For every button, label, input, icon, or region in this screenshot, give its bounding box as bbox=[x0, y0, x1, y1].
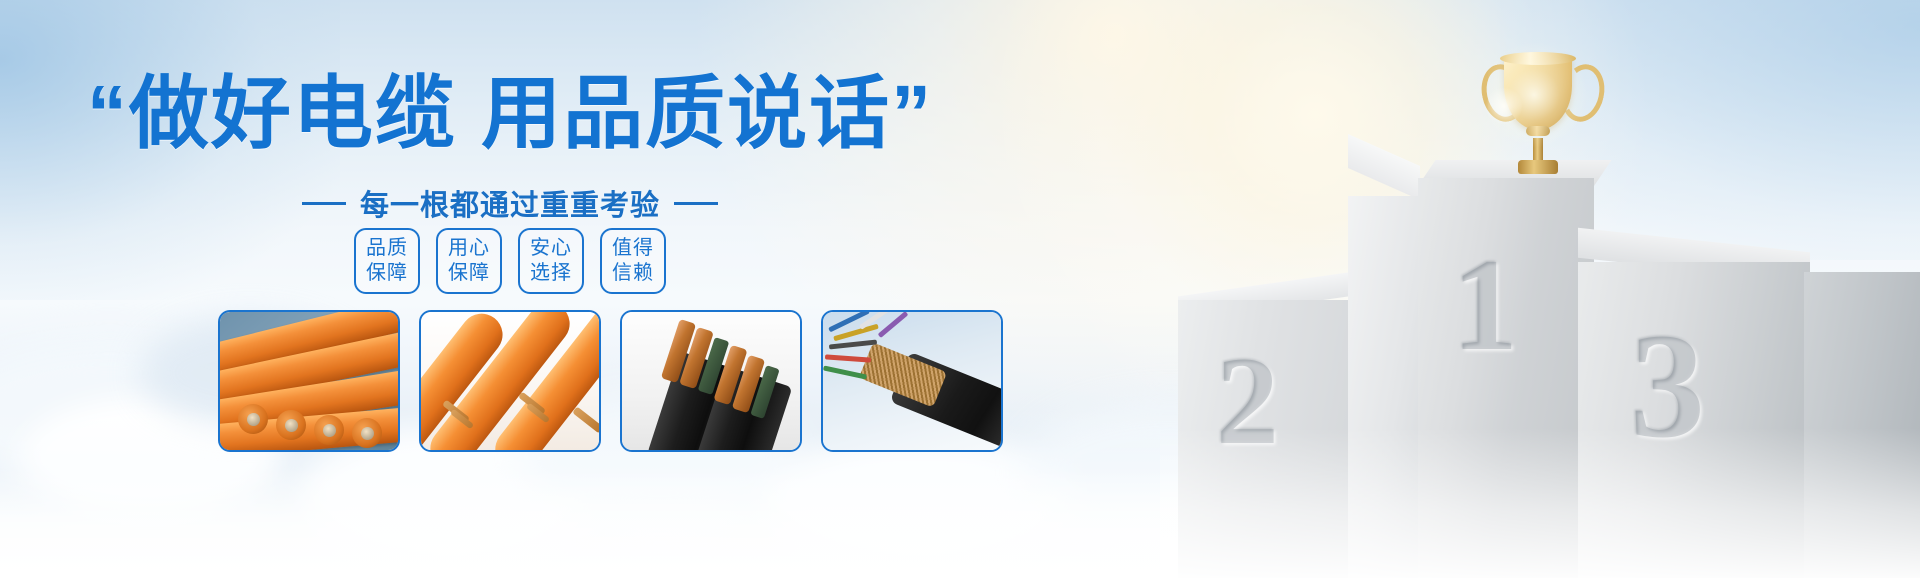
product-image-shielded-multicore-cable bbox=[823, 312, 1001, 450]
badge-confident-choice[interactable]: 安心 选择 bbox=[518, 228, 584, 294]
product-card-orange-cable-bundle[interactable] bbox=[218, 310, 400, 452]
product-card-armored-power-cable[interactable] bbox=[620, 310, 802, 452]
badge-trustworthy[interactable]: 值得 信赖 bbox=[600, 228, 666, 294]
sky-right-tint bbox=[1500, 0, 1920, 260]
badge-line-1: 安心 bbox=[530, 236, 572, 261]
subtitle: 每一根都通过重重考验 bbox=[360, 182, 660, 224]
product-card-row bbox=[218, 310, 1003, 452]
product-image-orange-cable-cutaway bbox=[421, 312, 599, 450]
badge-line-1: 用心 bbox=[448, 236, 490, 261]
promo-banner: 2 1 3 “做好电缆 用品质说话” 每一根都通过重重考验 bbox=[0, 0, 1920, 578]
headline: “做好电缆 用品质说话” bbox=[0, 68, 1020, 160]
badge-attentive-assurance[interactable]: 用心 保障 bbox=[436, 228, 502, 294]
product-card-orange-cable-cutaway[interactable] bbox=[419, 310, 601, 452]
product-card-shielded-multicore-cable[interactable] bbox=[821, 310, 1003, 452]
badge-line-2: 保障 bbox=[366, 261, 408, 286]
badge-line-2: 信赖 bbox=[612, 261, 654, 286]
subtitle-rule-left bbox=[302, 202, 346, 205]
product-image-armored-power-cable bbox=[622, 312, 800, 450]
badge-line-2: 保障 bbox=[448, 261, 490, 286]
product-image-orange-cable-bundle bbox=[220, 312, 398, 450]
badge-line-1: 品质 bbox=[366, 236, 408, 261]
subtitle-rule-right bbox=[674, 202, 718, 205]
badge-line-1: 值得 bbox=[612, 236, 654, 261]
badge-row: 品质 保障 用心 保障 安心 选择 值得 信赖 bbox=[0, 228, 1020, 294]
badge-line-2: 选择 bbox=[530, 261, 572, 286]
banner-content: “做好电缆 用品质说话” 每一根都通过重重考验 品质 保障 用心 保障 安心 选… bbox=[0, 0, 1020, 578]
subtitle-row: 每一根都通过重重考验 bbox=[0, 182, 1020, 224]
badge-quality-assurance[interactable]: 品质 保障 bbox=[354, 228, 420, 294]
